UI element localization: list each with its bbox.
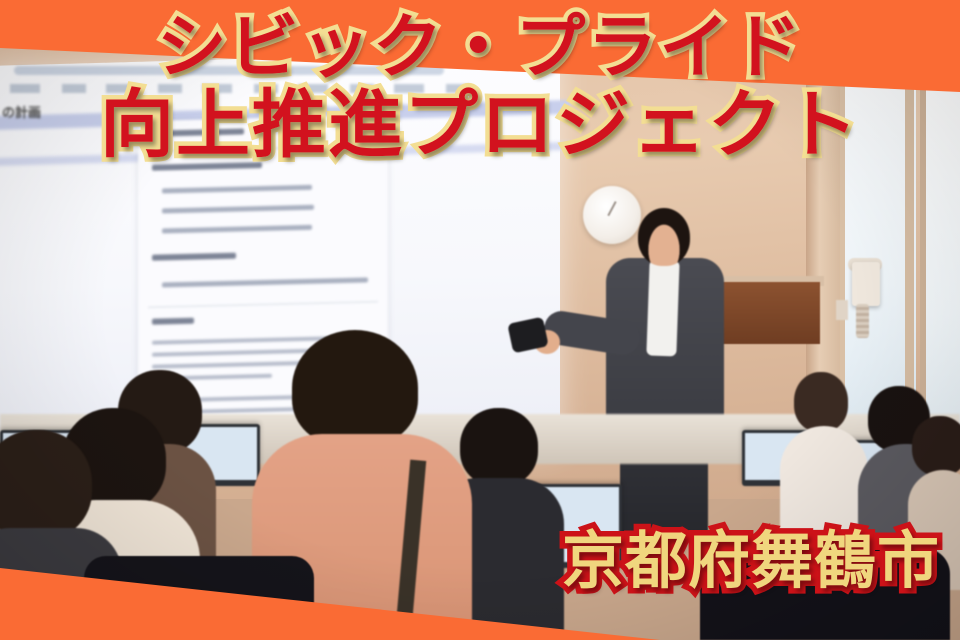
orange-band-bottom	[0, 550, 960, 640]
wall-phone-jack	[836, 300, 848, 320]
orange-band-top	[0, 0, 960, 120]
banner-canvas: の計画	[0, 0, 960, 640]
wall-phone-cord	[856, 304, 869, 338]
person-audience	[780, 372, 870, 552]
wall-phone-icon	[852, 262, 880, 306]
